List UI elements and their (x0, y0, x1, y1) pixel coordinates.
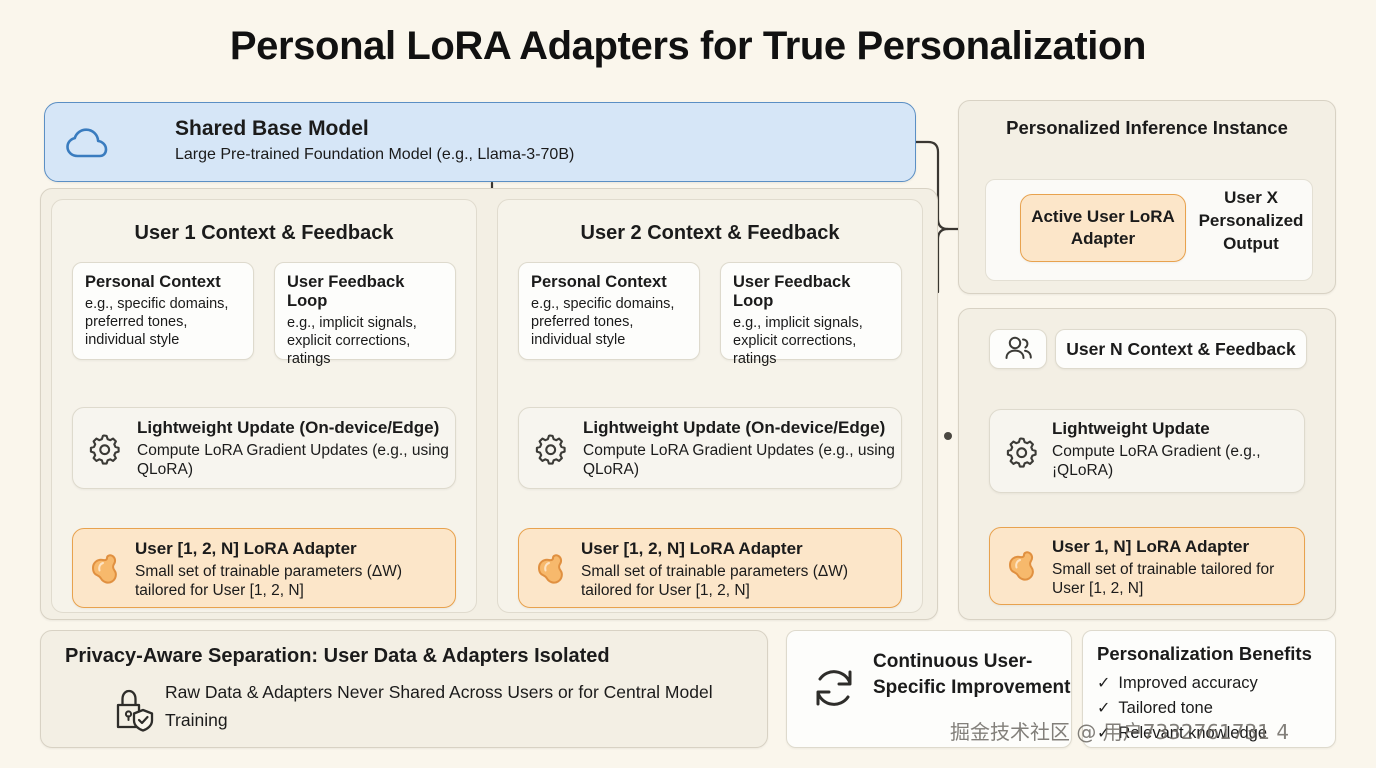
puzzle-piece-icon (533, 551, 569, 587)
lora-adapter-body-n: Small set of trainable tailored for User… (1052, 560, 1304, 598)
personal-context-body-2: e.g., specific domains, preferred tones,… (531, 295, 687, 349)
gear-icon (87, 431, 121, 465)
inference-inner-frame: Active User LoRA Adapter User X Personal… (985, 179, 1313, 281)
lora-adapter-body-2: Small set of trainable parameters (ΔW) t… (581, 562, 901, 600)
feedback-loop-body-2: e.g., implicit signals, explicit correct… (733, 314, 889, 368)
base-model-title: Shared Base Model (175, 117, 369, 141)
lightweight-update-title-n: Lightweight Update (1052, 419, 1210, 439)
gear-icon (533, 431, 567, 465)
lightweight-update-body-n: Compute LoRA Gradient (e.g., ¡QLoRA) (1052, 442, 1304, 480)
privacy-panel: Privacy-Aware Separation: User Data & Ad… (40, 630, 768, 748)
ellipsis-dot (944, 432, 952, 440)
user-columns-wrapper: User 1 Context & Feedback Personal Conte… (40, 188, 938, 620)
personal-context-card-1[interactable]: Personal Context e.g., specific domains,… (72, 262, 254, 360)
puzzle-piece-icon (1004, 548, 1040, 584)
lora-adapter-card-1[interactable]: User [1, 2, N] LoRA Adapter Small set of… (72, 528, 456, 608)
lightweight-update-card-1[interactable]: Lightweight Update (On-device/Edge) Comp… (72, 407, 456, 489)
user-column-1: User 1 Context & Feedback Personal Conte… (51, 199, 477, 613)
personal-context-title-1: Personal Context (85, 273, 241, 292)
shared-base-model-card[interactable]: Shared Base Model Large Pre-trained Foun… (44, 102, 916, 182)
continuous-improvement-label: Continuous User-Specific Improvement (873, 649, 1071, 701)
user-column-2: User 2 Context & Feedback Personal Conte… (497, 199, 923, 613)
refresh-loop-icon (809, 663, 859, 713)
lightweight-update-title-2: Lightweight Update (On-device/Edge) (583, 418, 885, 438)
user-n-header[interactable]: User N Context & Feedback (1055, 329, 1307, 369)
user-column-2-header: User 2 Context & Feedback (498, 222, 922, 245)
page-title: Personal LoRA Adapters for True Personal… (0, 24, 1376, 69)
user-column-1-header: User 1 Context & Feedback (52, 222, 476, 245)
user-x-personalized-output: User X Personalized Output (1198, 186, 1304, 255)
puzzle-piece-icon (87, 551, 123, 587)
personal-context-card-2[interactable]: Personal Context e.g., specific domains,… (518, 262, 700, 360)
personal-context-body-1: e.g., specific domains, preferred tones,… (85, 295, 241, 349)
cloud-icon (65, 127, 109, 161)
diagram-canvas: Personal LoRA Adapters for True Personal… (0, 0, 1376, 768)
lock-shield-icon (109, 686, 155, 732)
feedback-loop-card-2[interactable]: User Feedback Loop e.g., implicit signal… (720, 262, 902, 360)
people-icon (990, 330, 1046, 368)
watermark: 掘金技术社区 @ 用户7332761731 4 (950, 716, 1289, 745)
gear-icon (1004, 434, 1038, 468)
personalized-inference-instance-panel: Personalized Inference Instance Active U… (958, 100, 1336, 294)
user-n-panel: User N Context & Feedback Lightweight Up… (958, 308, 1336, 620)
lora-adapter-title-1: User [1, 2, N] LoRA Adapter (135, 539, 357, 559)
personal-context-title-2: Personal Context (531, 273, 687, 292)
lightweight-update-card-2[interactable]: Lightweight Update (On-device/Edge) Comp… (518, 407, 902, 489)
lightweight-update-body-1: Compute LoRA Gradient Updates (e.g., usi… (137, 441, 455, 479)
benefits-title: Personalization Benefits (1097, 643, 1312, 665)
privacy-title: Privacy-Aware Separation: User Data & Ad… (65, 645, 610, 668)
people-icon-frame (989, 329, 1047, 369)
active-user-lora-adapter[interactable]: Active User LoRA Adapter (1020, 194, 1186, 262)
check-icon: ✓ (1097, 671, 1110, 696)
lora-adapter-body-1: Small set of trainable parameters (ΔW) t… (135, 562, 455, 600)
lora-adapter-card-n[interactable]: User 1, N] LoRA Adapter Small set of tra… (989, 527, 1305, 605)
benefit-label: Improved accuracy (1118, 671, 1257, 696)
base-model-subtitle: Large Pre-trained Foundation Model (e.g.… (175, 146, 574, 164)
lightweight-update-card-n[interactable]: Lightweight Update Compute LoRA Gradient… (989, 409, 1305, 493)
lora-adapter-card-2[interactable]: User [1, 2, N] LoRA Adapter Small set of… (518, 528, 902, 608)
lightweight-update-body-2: Compute LoRA Gradient Updates (e.g., usi… (583, 441, 901, 479)
feedback-loop-card-1[interactable]: User Feedback Loop e.g., implicit signal… (274, 262, 456, 360)
list-item: ✓ Improved accuracy (1097, 671, 1267, 696)
feedback-loop-title-1: User Feedback Loop (287, 273, 443, 311)
privacy-body: Raw Data & Adapters Never Shared Across … (165, 678, 767, 734)
lora-adapter-title-n: User 1, N] LoRA Adapter (1052, 537, 1249, 557)
feedback-loop-title-2: User Feedback Loop (733, 273, 889, 311)
feedback-loop-body-1: e.g., implicit signals, explicit correct… (287, 314, 443, 368)
lightweight-update-title-1: Lightweight Update (On-device/Edge) (137, 418, 439, 438)
lora-adapter-title-2: User [1, 2, N] LoRA Adapter (581, 539, 803, 559)
inference-title: Personalized Inference Instance (959, 115, 1335, 140)
